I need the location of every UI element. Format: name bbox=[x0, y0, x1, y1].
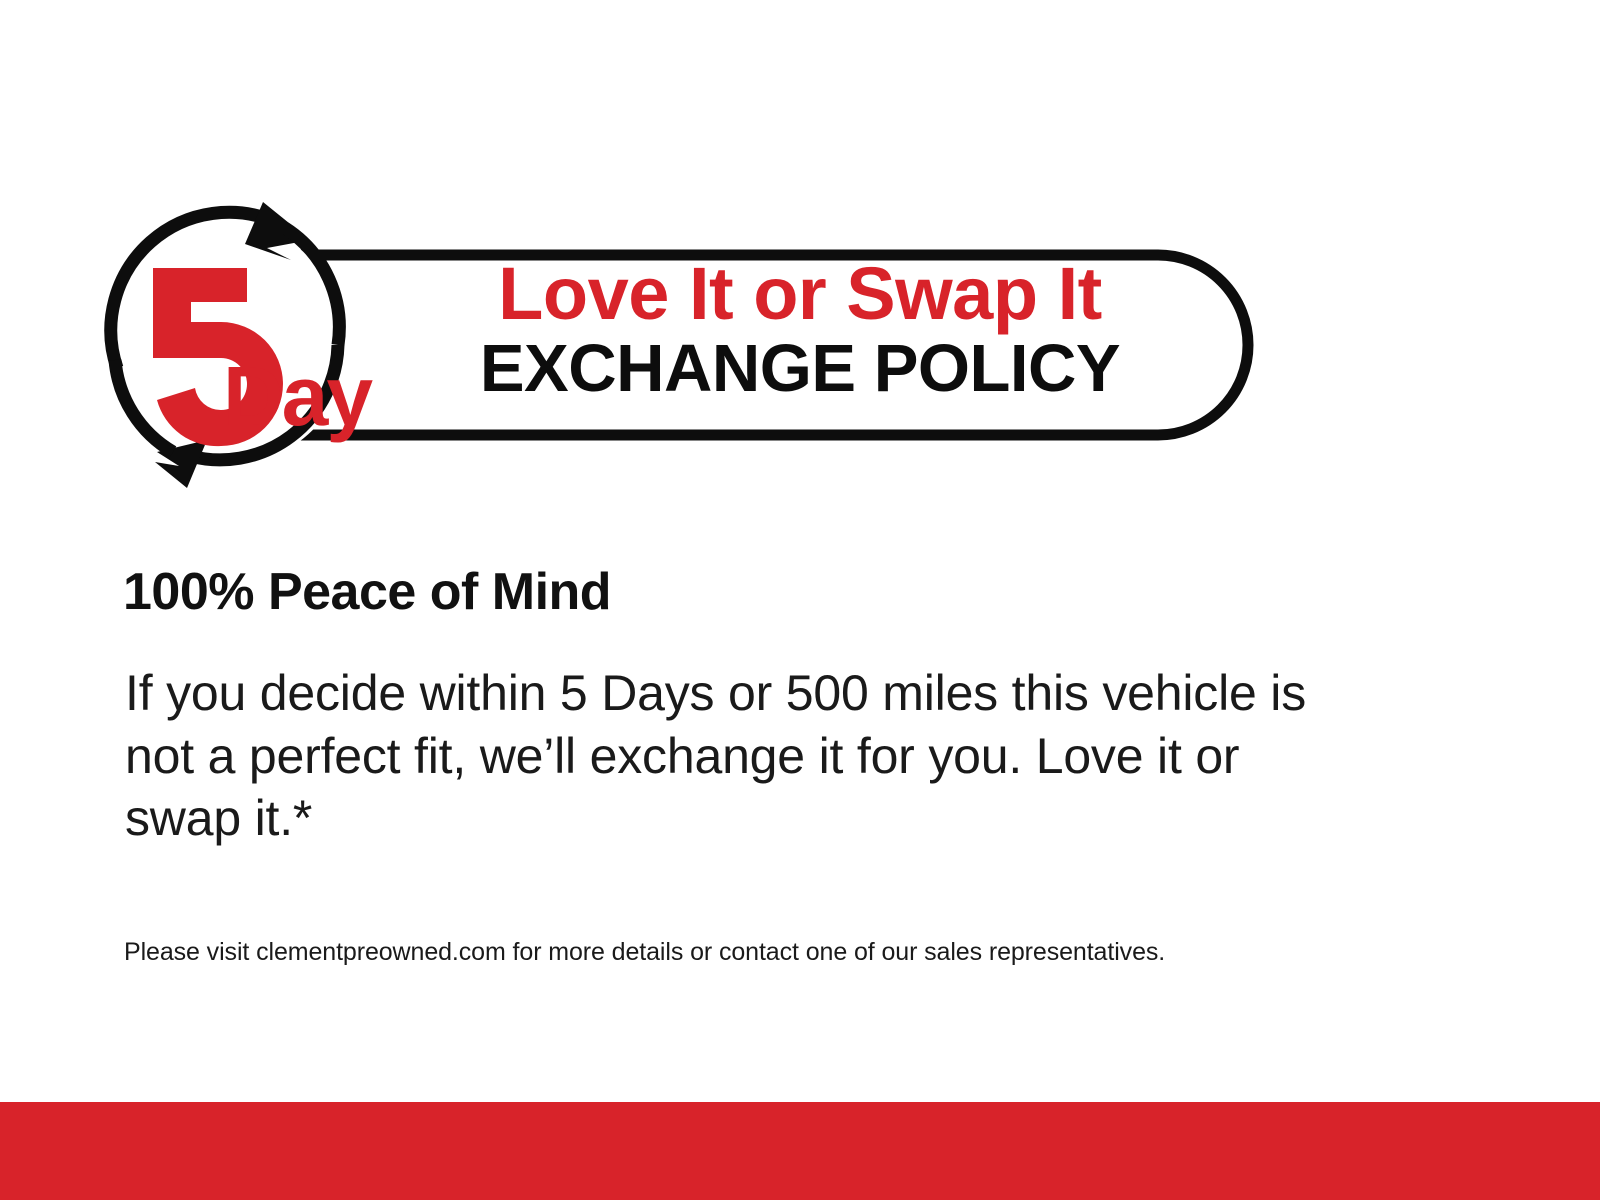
pill-outline bbox=[265, 255, 1248, 435]
policy-slide: Day Love It or Swap It EXCHANGE POLICY 1… bbox=[0, 0, 1600, 1200]
policy-description: If you decide within 5 Days or 500 miles… bbox=[125, 662, 1340, 850]
badge-graphic: Day bbox=[95, 200, 1275, 490]
fine-print-disclaimer: Please visit clementpreowned.com for mor… bbox=[124, 938, 1484, 967]
bottom-brand-bar bbox=[0, 1102, 1600, 1200]
day-label: Day bbox=[223, 349, 373, 443]
exchange-policy-badge: Day Love It or Swap It EXCHANGE POLICY bbox=[95, 200, 1275, 490]
page-heading: 100% Peace of Mind bbox=[123, 562, 611, 622]
